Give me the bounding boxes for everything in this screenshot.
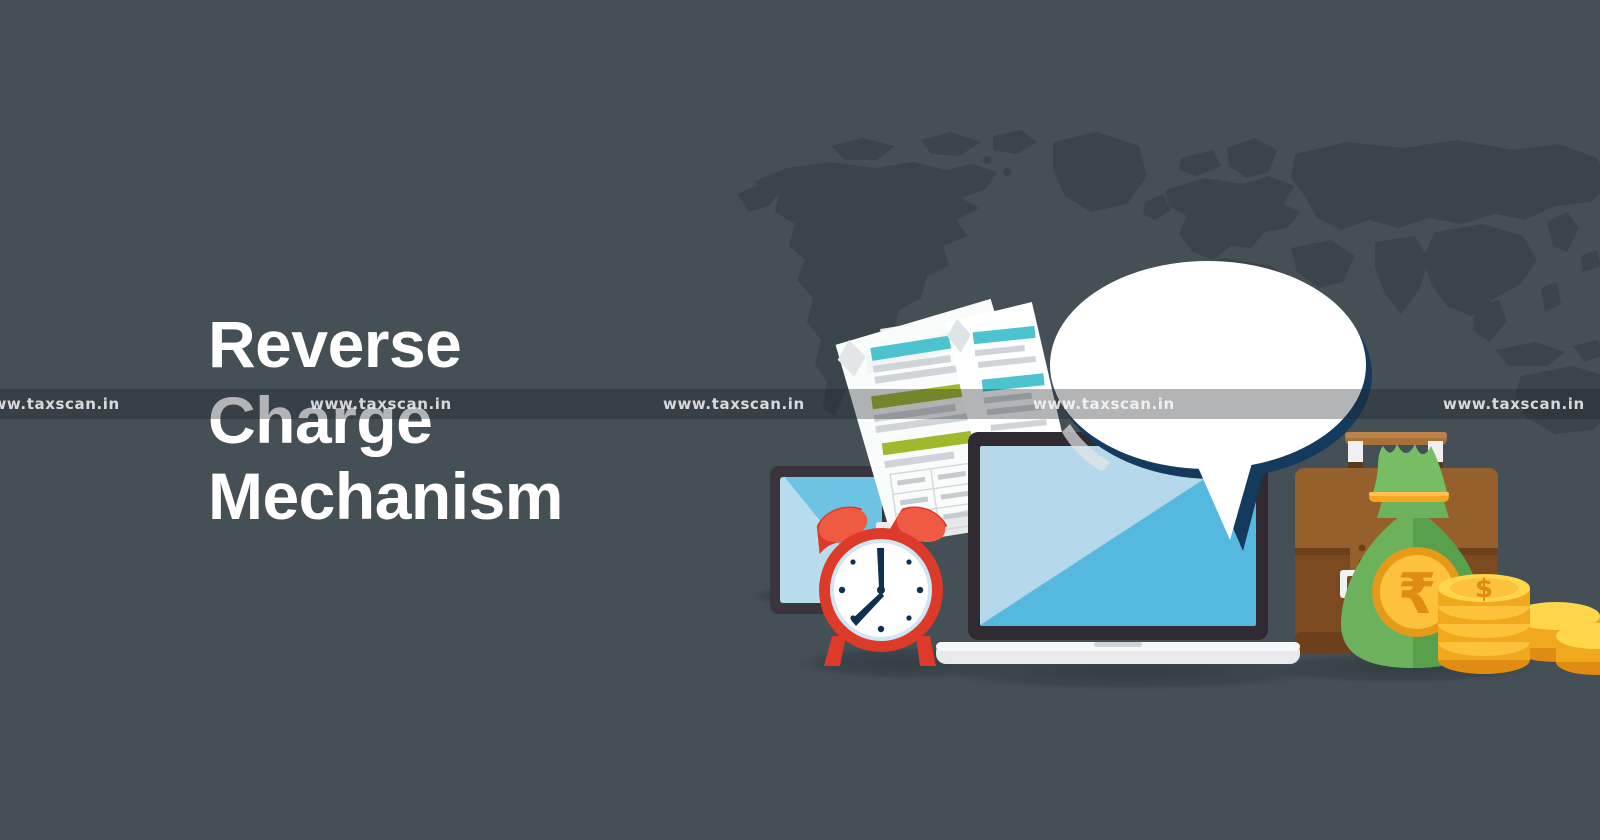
title-line-3: Mechanism — [208, 458, 848, 534]
title-line-1: Reverse — [208, 306, 848, 382]
page-title: Reverse Charge Mechanism — [208, 306, 848, 534]
banner-canvas: Reverse Charge Mechanism — [0, 0, 1600, 840]
coin-stack: $ — [1438, 574, 1600, 675]
title-line-2: Charge — [208, 382, 848, 458]
dollar-symbol: $ — [1475, 574, 1493, 604]
rupee-symbol: ₹ — [1398, 562, 1437, 627]
